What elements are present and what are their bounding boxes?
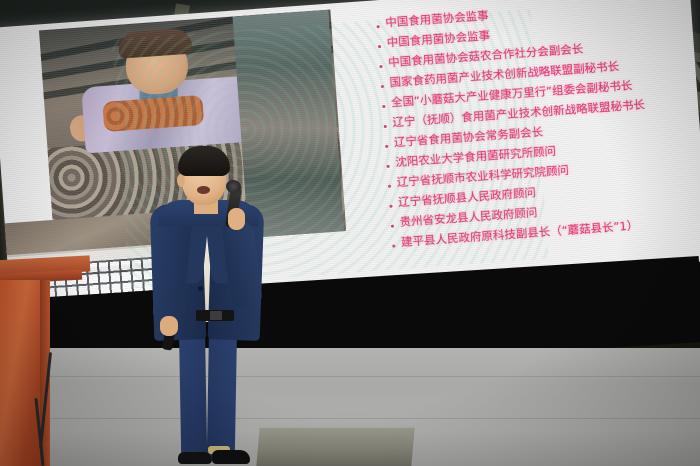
bullet-dot-icon — [381, 85, 384, 88]
speaker-ear — [177, 174, 185, 187]
screenshot-root: 刘 中国食用菌协会监事 中国食用菌协会监事 中国食用菌协会菇农合作社分会副会长 — [0, 0, 700, 466]
speaker-left-hand — [160, 316, 178, 336]
slide-bullet-list: 中国食用菌协会监事 中国食用菌协会监事 中国食用菌协会菇农合作社分会副会长 国家… — [376, 0, 700, 256]
bullet-dot-icon — [382, 105, 385, 108]
bullet-text: 中国食用菌协会监事 — [385, 8, 489, 30]
stage-monitor-wedge — [256, 426, 415, 466]
bullet-dot-icon — [389, 205, 392, 208]
speaker-mouth — [197, 186, 210, 194]
bullet-dot-icon — [385, 145, 388, 148]
speaker-belt-buckle — [210, 311, 222, 320]
bullet-text: 中国食用菌协会监事 — [386, 28, 490, 50]
bullet-dot-icon — [379, 65, 382, 68]
bullet-dot-icon — [388, 185, 391, 188]
speaker-left-shoe — [178, 452, 212, 464]
bullet-dot-icon — [392, 245, 395, 248]
bullet-dot-icon — [391, 225, 394, 228]
bullet-dot-icon — [378, 45, 381, 48]
speaker-hair — [178, 146, 230, 176]
speaker-right-shoe — [212, 450, 250, 464]
speaker-jacket-button — [198, 286, 203, 291]
speaker-right-hand — [228, 208, 245, 230]
bullet-dot-icon — [387, 165, 390, 168]
bullet-dot-icon — [384, 125, 387, 128]
bullet-dot-icon — [377, 25, 380, 28]
